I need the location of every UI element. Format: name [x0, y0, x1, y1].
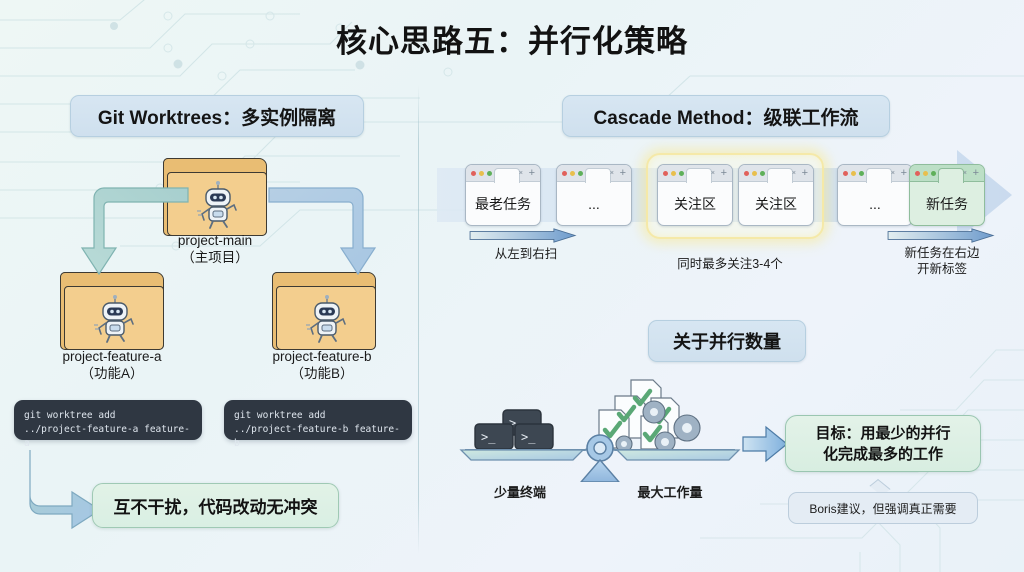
svg-text:>_: >_ [481, 430, 496, 444]
folder-name-feature-a: project-feature-a [62, 349, 161, 364]
cascade-window-strip: × + 最老任务 × + ... × + 关注区 [443, 152, 1003, 240]
scale-label-right: 最大工作量 [610, 482, 730, 501]
new-tab-icon[interactable]: + [901, 167, 907, 179]
window-chrome: × + [466, 165, 540, 182]
target-callout-text: 目标：用最少的并行 化完成最多的工作 [815, 423, 950, 465]
close-icon[interactable]: × [711, 170, 715, 177]
documents-gears-icon [599, 380, 700, 452]
panel-divider [418, 84, 419, 554]
browser-window-focus-1[interactable]: × + 关注区 [657, 164, 733, 226]
tab-shape [585, 168, 611, 183]
traffic-lights-icon [843, 171, 864, 176]
arrow-main-to-feature-a [80, 186, 190, 286]
cascade-section-header: Cascade Method：级联工作流 [562, 95, 890, 137]
result-callout: 互不干扰，代码改动无冲突 [92, 483, 339, 528]
window-label: 关注区 [658, 182, 732, 226]
browser-window-ellipsis-left[interactable]: × + ... [556, 164, 632, 226]
new-tab-icon[interactable]: + [620, 167, 626, 179]
traffic-lights-icon [744, 171, 765, 176]
tab-shape [938, 168, 964, 183]
terminal-command-feature-b: git worktree add ../project-feature-b fe… [224, 400, 412, 440]
folder-name-feature-b: project-feature-b [272, 349, 371, 364]
left-section-header: Git Worktrees：多实例隔离 [70, 95, 364, 137]
page-title: 核心思路五：并行化策略 [0, 16, 1024, 61]
window-chrome: × + [838, 165, 912, 182]
window-label: ... [838, 182, 912, 226]
caption-focus-limit: 同时最多关注3-4个 [640, 256, 820, 272]
tab-shape [767, 168, 793, 183]
new-tab-icon[interactable]: + [721, 167, 727, 179]
caption-new-task-right: 新任务在右边 开新标签 [852, 245, 1024, 277]
robot-icon [92, 294, 138, 344]
caption-scan-left-to-right: 从左到右扫 [436, 246, 616, 262]
robot-icon [304, 294, 350, 344]
new-tab-icon[interactable]: + [529, 167, 535, 179]
close-icon[interactable]: × [963, 170, 967, 177]
window-chrome: × + [658, 165, 732, 182]
traffic-lights-icon [663, 171, 684, 176]
scan-direction-arrow-left [462, 228, 584, 243]
folder-label-feature-a: project-feature-a （功能A） [12, 348, 212, 382]
close-icon[interactable]: × [792, 170, 796, 177]
note-callout: Boris建议，但强调真正需要 [788, 492, 978, 524]
new-tab-direction-arrow-right [880, 228, 1002, 243]
parallel-count-header: 关于并行数量 [648, 320, 806, 362]
folder-sub-main: （主项目） [181, 250, 249, 265]
tab-shape [866, 168, 892, 183]
arrow-main-to-feature-b [267, 186, 377, 286]
new-tab-icon[interactable]: + [973, 167, 979, 179]
window-chrome: × + [557, 165, 631, 182]
close-icon[interactable]: × [610, 170, 614, 177]
scale-label-left: 少量终端 [460, 482, 580, 501]
caption-new-task-right-text: 新任务在右边 开新标签 [904, 246, 979, 276]
window-chrome: × + [910, 165, 984, 182]
arrow-to-result [28, 448, 102, 530]
close-icon[interactable]: × [891, 170, 895, 177]
browser-window-ellipsis-right[interactable]: × + ... [837, 164, 913, 226]
new-tab-icon[interactable]: + [802, 167, 808, 179]
browser-window-new-task[interactable]: × + 新任务 [909, 164, 985, 226]
robot-icon [195, 180, 241, 230]
target-callout: 目标：用最少的并行 化完成最多的工作 [785, 415, 981, 472]
arrow-to-target [742, 425, 788, 463]
slide-root: 核心思路五：并行化策略 Git Worktrees：多实例隔离 project-… [0, 0, 1024, 572]
window-label: ... [557, 182, 631, 226]
terminal-command-feature-a: git worktree add ../project-feature-a fe… [14, 400, 202, 440]
folder-label-feature-b: project-feature-b （功能B） [222, 348, 422, 382]
balance-scale-illustration: >_ >_ >_ [455, 372, 745, 482]
window-label: 新任务 [910, 182, 984, 226]
tab-shape [494, 168, 520, 183]
traffic-lights-icon [915, 171, 936, 176]
svg-text:>_: >_ [521, 430, 536, 444]
traffic-lights-icon [471, 171, 492, 176]
browser-window-oldest-task[interactable]: × + 最老任务 [465, 164, 541, 226]
traffic-lights-icon [562, 171, 583, 176]
terminal-icon: >_ >_ >_ [475, 410, 553, 449]
close-icon[interactable]: × [519, 170, 523, 177]
folder-sub-feature-b: （功能B） [290, 366, 353, 381]
tab-shape [686, 168, 712, 183]
window-chrome: × + [739, 165, 813, 182]
folder-sub-feature-a: （功能A） [80, 366, 143, 381]
browser-window-focus-2[interactable]: × + 关注区 [738, 164, 814, 226]
window-label: 关注区 [739, 182, 813, 226]
window-label: 最老任务 [466, 182, 540, 226]
